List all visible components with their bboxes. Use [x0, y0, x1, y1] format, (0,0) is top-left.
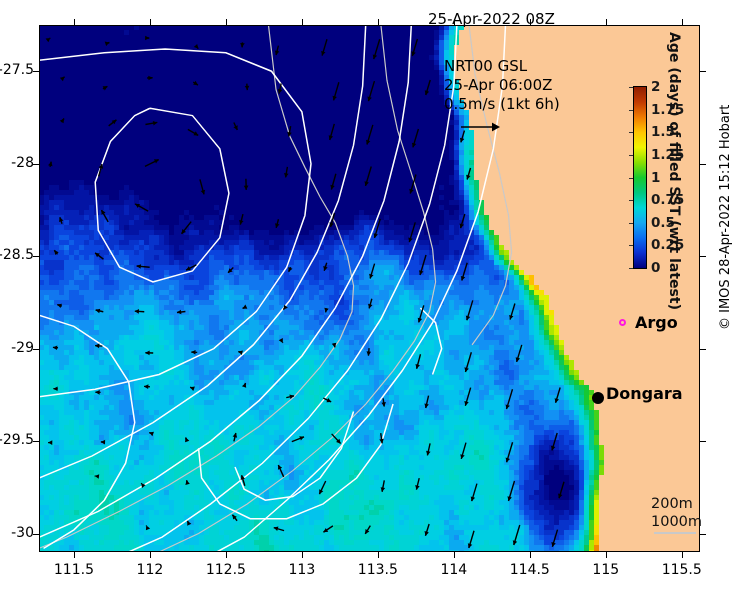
- current-key-line1: NRT00 GSL: [444, 57, 560, 76]
- x-axis-tick: [530, 19, 531, 25]
- map-canvas[interactable]: [39, 25, 700, 552]
- y-axis-tick: [700, 164, 706, 165]
- y-axis-tick: [700, 441, 706, 442]
- depth-key-1000m: 1000m: [651, 513, 702, 531]
- x-axis-tick: [302, 19, 303, 25]
- x-axis-label: 114.5: [495, 562, 565, 578]
- argo-label: Argo: [635, 313, 678, 332]
- y-axis-label: -29: [0, 340, 34, 356]
- x-axis-tick: [150, 19, 151, 25]
- x-axis-tick: [74, 19, 75, 25]
- colorbar-tick-label: 2: [651, 79, 660, 95]
- colorbar-tick-label: 1: [651, 170, 660, 186]
- y-axis-tick: [700, 71, 706, 72]
- x-axis-label: 113: [267, 562, 337, 578]
- x-axis-tick: [454, 552, 455, 558]
- x-axis-label: 114: [419, 562, 489, 578]
- right-arrow-icon: [460, 120, 500, 134]
- x-axis-tick: [74, 552, 75, 558]
- current-key-line3: 0.5m/s (1kt 6h): [444, 95, 560, 114]
- colorbar-tick: [629, 178, 633, 179]
- x-axis-tick: [682, 19, 683, 25]
- y-axis-label: -29.5: [0, 432, 34, 448]
- y-axis-tick: [700, 256, 706, 257]
- x-axis-tick: [226, 19, 227, 25]
- x-axis-label: 111.5: [39, 562, 109, 578]
- x-axis-label: 115: [571, 562, 641, 578]
- colorbar-tick: [629, 223, 633, 224]
- y-axis-label: -30: [0, 525, 34, 541]
- colorbar-tick: [629, 200, 633, 201]
- y-axis-tick: [700, 534, 706, 535]
- x-axis-tick: [530, 552, 531, 558]
- y-axis-tick: [700, 349, 706, 350]
- colorbar-tick-label: 0: [651, 260, 660, 276]
- colorbar-tick: [629, 132, 633, 133]
- map-plot-area[interactable]: [39, 25, 700, 552]
- colorbar-tick: [629, 268, 633, 269]
- colorbar-title: Age (days) of filled SST (wrt latest): [666, 32, 682, 310]
- x-axis-tick: [606, 552, 607, 558]
- x-axis-tick: [150, 552, 151, 558]
- y-axis-label: -28.5: [0, 247, 34, 263]
- y-axis-label: -27.5: [0, 62, 34, 78]
- colorbar-tick: [629, 87, 633, 88]
- x-axis-tick: [378, 19, 379, 25]
- depth-key-line: [654, 532, 696, 534]
- x-axis-label: 112: [115, 562, 185, 578]
- timestamp-label: 25-Apr-2022 08Z: [428, 10, 555, 28]
- x-axis-tick: [606, 19, 607, 25]
- x-axis-tick: [226, 552, 227, 558]
- colorbar-tick: [629, 245, 633, 246]
- colorbar-tick: [629, 110, 633, 111]
- x-axis-tick: [454, 19, 455, 25]
- depth-key-200m: 200m: [651, 495, 702, 513]
- dongara-marker-icon: [592, 392, 604, 404]
- x-axis-label: 115.5: [647, 562, 717, 578]
- colorbar: [633, 86, 647, 269]
- current-key-block: NRT00 GSL 25-Apr 06:00Z 0.5m/s (1kt 6h): [444, 57, 560, 114]
- y-axis-label: -28: [0, 155, 34, 171]
- argo-marker-icon: [619, 319, 626, 326]
- depth-contour-key: 200m 1000m: [651, 495, 702, 531]
- sst-age-map-figure: 25-Apr-2022 08Z NRT00 GSL 25-Apr 06:00Z …: [0, 0, 740, 592]
- x-axis-label: 112.5: [191, 562, 261, 578]
- x-axis-label: 113.5: [343, 562, 413, 578]
- current-key-line2: 25-Apr 06:00Z: [444, 76, 560, 95]
- x-axis-tick: [302, 552, 303, 558]
- credit-label: © IMOS 28-Apr-2022 15:12 Hobart: [718, 105, 733, 330]
- x-axis-tick: [682, 552, 683, 558]
- dongara-label: Dongara: [606, 384, 683, 403]
- colorbar-tick: [629, 155, 633, 156]
- x-axis-tick: [378, 552, 379, 558]
